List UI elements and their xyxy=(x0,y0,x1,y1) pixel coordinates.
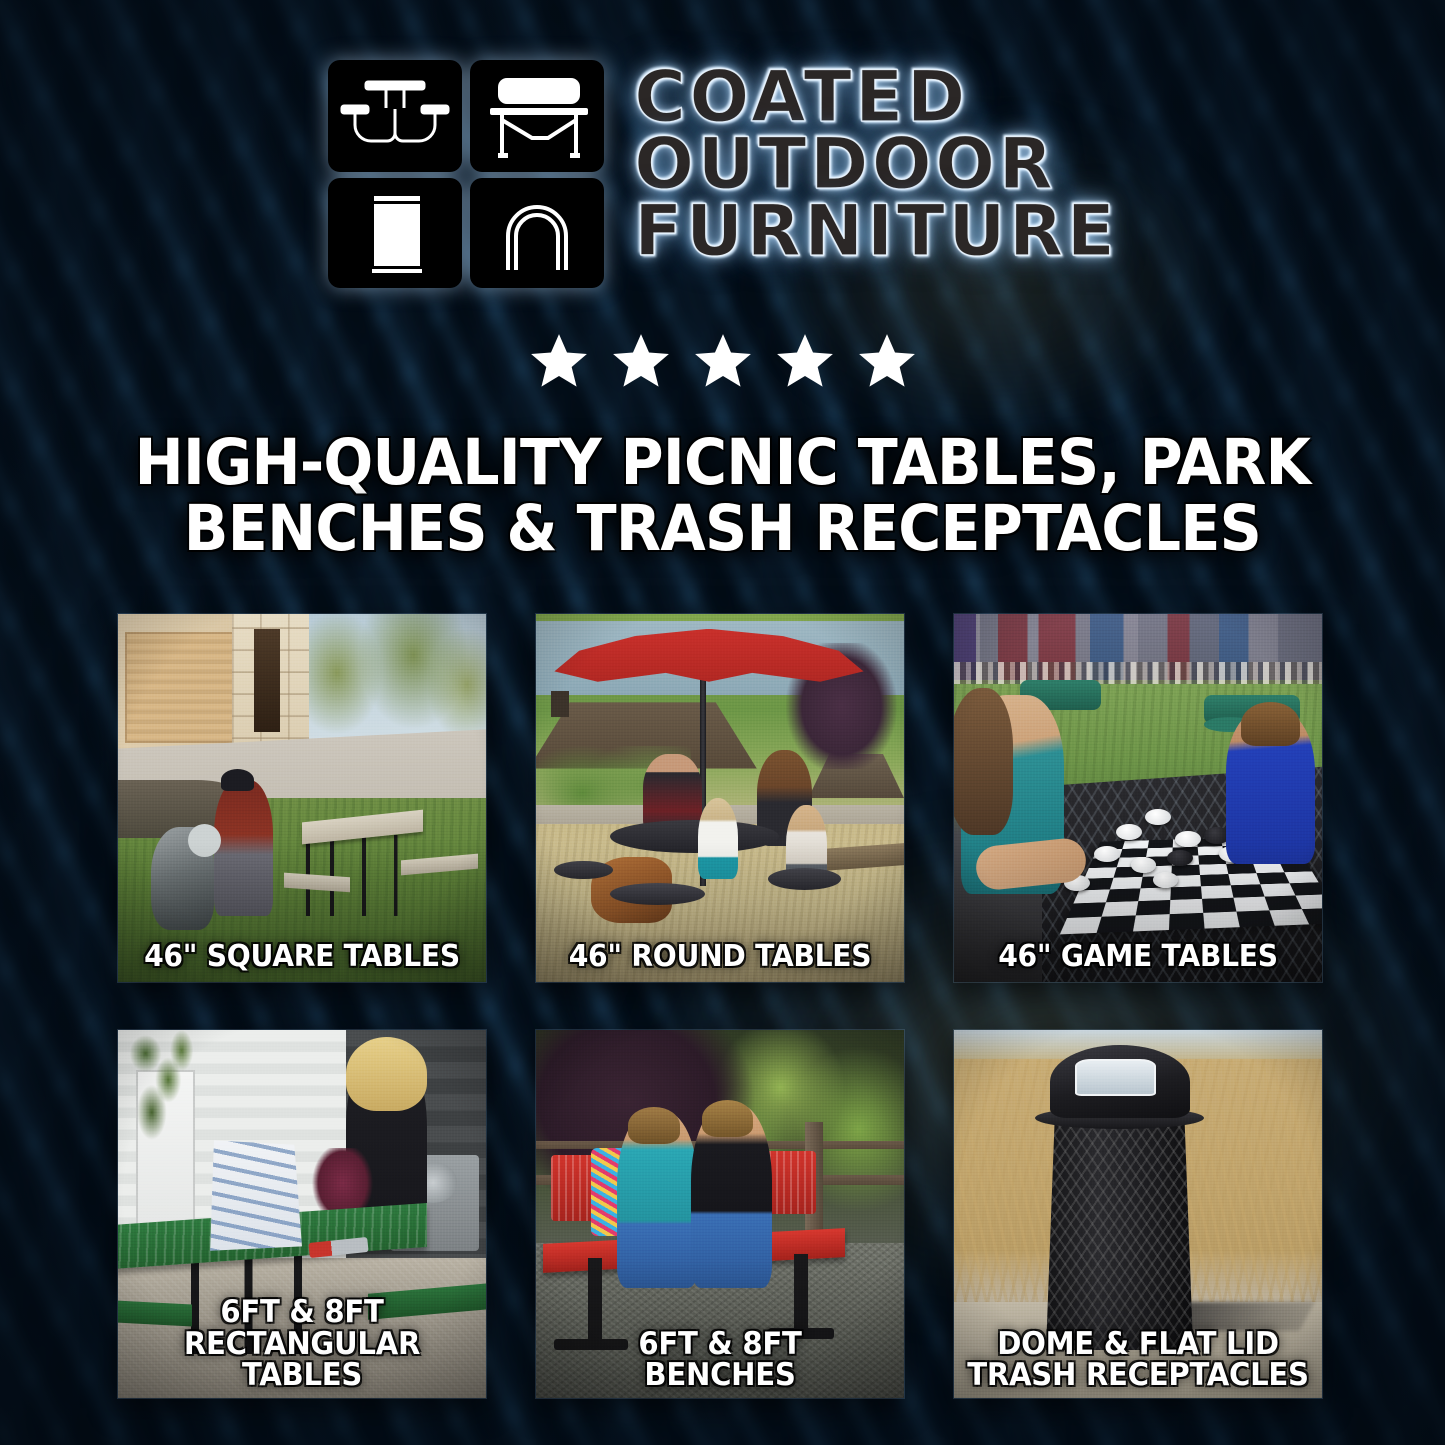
product-photo-square-tables xyxy=(118,614,486,982)
logo-line-2: OUTDOOR xyxy=(634,131,1118,198)
product-card-trash-receptacles[interactable]: DOME & FLAT LID TRASH RECEPTACLES xyxy=(954,1030,1322,1398)
star-icon xyxy=(610,330,672,392)
product-photo-round-tables xyxy=(536,614,904,982)
product-caption-game-tables: 46" GAME TABLES xyxy=(965,942,1311,972)
product-caption-round-tables: 46" ROUND TABLES xyxy=(547,942,893,972)
product-photo-game-tables xyxy=(954,614,1322,982)
star-icon xyxy=(856,330,918,392)
caption-line-1: 46" ROUND TABLES xyxy=(547,942,893,972)
trash-receptacle-icon xyxy=(372,196,422,273)
caption-line-2: BENCHES xyxy=(547,1360,893,1392)
star-rating xyxy=(0,330,1445,392)
headline-line-2: BENCHES & TRASH RECEPTACLES xyxy=(106,496,1338,562)
product-caption-rectangular-tables: 6FT & 8FT RECTANGULAR TABLES xyxy=(129,1297,475,1392)
caption-line-1: 6FT & 8FT xyxy=(547,1329,893,1361)
product-card-square-tables[interactable]: 46" SQUARE TABLES xyxy=(118,614,486,982)
product-card-round-tables[interactable]: 46" ROUND TABLES xyxy=(536,614,904,982)
caption-line-1: 46" SQUARE TABLES xyxy=(129,942,475,972)
promo-banner: COATED OUTDOOR FURNITURE HIGH-QUALITY PI… xyxy=(0,0,1445,1445)
star-icon xyxy=(692,330,754,392)
caption-line-1: 46" GAME TABLES xyxy=(965,942,1311,972)
product-caption-trash-receptacles: DOME & FLAT LID TRASH RECEPTACLES xyxy=(965,1329,1311,1392)
caption-line-2: TRASH RECEPTACLES xyxy=(965,1360,1311,1392)
logo-icon-grid xyxy=(326,58,606,290)
caption-line-1: DOME & FLAT LID xyxy=(965,1329,1311,1361)
star-icon xyxy=(774,330,836,392)
product-caption-square-tables: 46" SQUARE TABLES xyxy=(129,942,475,972)
product-caption-benches: 6FT & 8FT BENCHES xyxy=(547,1329,893,1392)
brand-logo[interactable]: COATED OUTDOOR FURNITURE xyxy=(0,58,1445,290)
product-card-game-tables[interactable]: 46" GAME TABLES xyxy=(954,614,1322,982)
logo-line-1: COATED xyxy=(634,64,1118,131)
product-grid: 46" SQUARE TABLES xyxy=(118,614,1328,1398)
product-card-benches[interactable]: 6FT & 8FT BENCHES xyxy=(536,1030,904,1398)
headline: HIGH-QUALITY PICNIC TABLES, PARK BENCHES… xyxy=(51,430,1395,561)
star-icon xyxy=(528,330,590,392)
logo-line-3: FURNITURE xyxy=(634,198,1118,265)
caption-line-1: 6FT & 8FT xyxy=(129,1297,475,1329)
caption-line-2: RECTANGULAR TABLES xyxy=(129,1329,475,1392)
logo-wordmark: COATED OUTDOOR FURNITURE xyxy=(634,58,1118,266)
headline-line-1: HIGH-QUALITY PICNIC TABLES, PARK xyxy=(106,430,1338,496)
product-card-rectangular-tables[interactable]: 6FT & 8FT RECTANGULAR TABLES xyxy=(118,1030,486,1398)
